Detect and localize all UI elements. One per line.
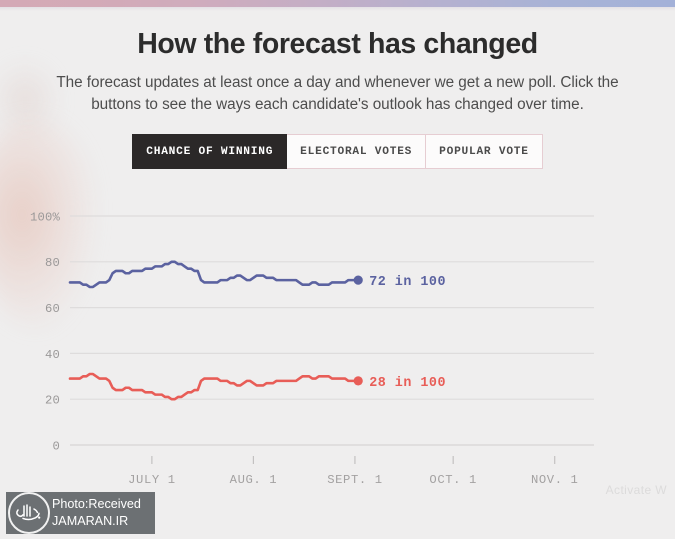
series-line-clinton bbox=[70, 262, 358, 287]
xtick-label-1: AUG. 1 bbox=[230, 473, 277, 487]
watermark-line-1: Photo:Received bbox=[52, 496, 141, 513]
header: How the forecast has changed The forecas… bbox=[0, 11, 675, 117]
xtick-label-0: JULY 1 bbox=[128, 473, 175, 487]
series-endpoint-dot-trump bbox=[354, 376, 363, 385]
series-end-label-trump: 28 in 100 bbox=[369, 376, 446, 391]
watermark-line-2: JAMARAN.IR bbox=[52, 513, 141, 530]
top-gradient-strip bbox=[0, 0, 675, 7]
series-endpoint-dot-clinton bbox=[354, 276, 363, 285]
xtick-label-4: NOV. 1 bbox=[531, 473, 578, 487]
chart-svg: 100%806040200JULY 1AUG. 1SEPT. 1OCT. 1NO… bbox=[0, 196, 675, 496]
ytick-label-20: 20 bbox=[45, 394, 60, 408]
xtick-label-3: OCT. 1 bbox=[429, 473, 476, 487]
ytick-label-60: 60 bbox=[45, 302, 60, 316]
watermark: Photo:Received JAMARAN.IR bbox=[6, 492, 155, 534]
ytick-label-0: 0 bbox=[52, 439, 60, 453]
tab-chance-of-winning[interactable]: CHANCE OF WINNING bbox=[132, 134, 287, 169]
forecast-chart: 100%806040200JULY 1AUG. 1SEPT. 1OCT. 1NO… bbox=[0, 196, 675, 496]
ytick-label-40: 40 bbox=[45, 348, 60, 362]
page-title: How the forecast has changed bbox=[0, 30, 675, 59]
calligraphy-glyph bbox=[14, 501, 44, 525]
tab-popular-vote[interactable]: POPULAR VOTE bbox=[426, 134, 543, 169]
series-end-label-clinton: 72 in 100 bbox=[369, 275, 446, 290]
ytick-label-100: 100% bbox=[30, 210, 61, 224]
series-line-trump bbox=[70, 374, 358, 399]
watermark-text: Photo:Received JAMARAN.IR bbox=[52, 496, 141, 529]
ytick-label-80: 80 bbox=[45, 256, 60, 270]
xtick-label-2: SEPT. 1 bbox=[327, 473, 382, 487]
jamaran-calligraphy-logo-icon bbox=[8, 492, 50, 534]
page-subtitle: The forecast updates at least once a day… bbox=[33, 72, 643, 117]
tab-electoral-votes[interactable]: ELECTORAL VOTES bbox=[287, 134, 426, 169]
view-mode-tabs[interactable]: CHANCE OF WINNINGELECTORAL VOTESPOPULAR … bbox=[0, 134, 675, 169]
bottom-filler bbox=[0, 534, 675, 539]
